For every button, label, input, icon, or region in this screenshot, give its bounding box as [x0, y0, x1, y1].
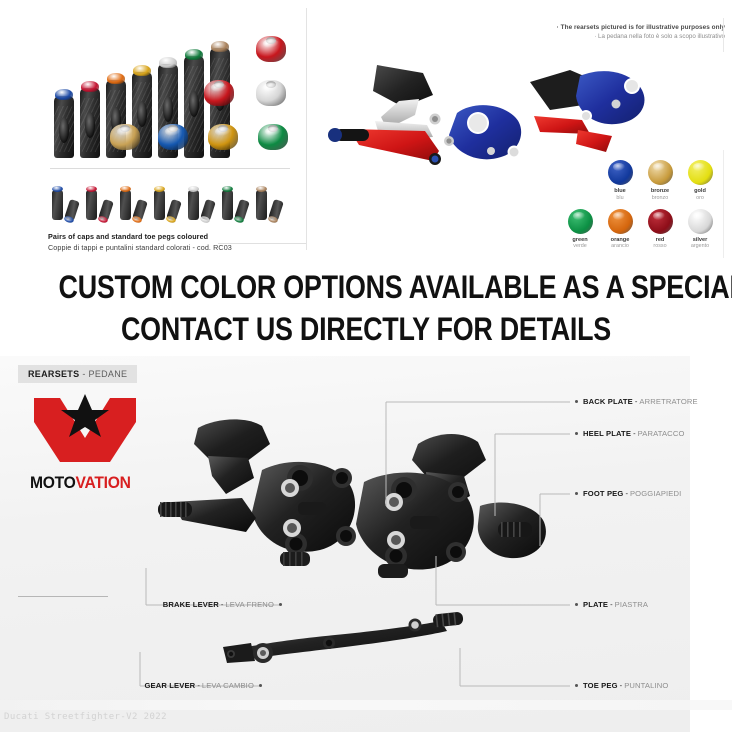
swatch-dot-bronze [648, 160, 673, 185]
annotation-en: PLATE [583, 600, 608, 609]
annotation-en: BRAKE LEVER [163, 600, 219, 609]
cap-blue-cap [158, 124, 188, 150]
panel-right-margin [690, 356, 732, 732]
swatch-label-en-orange: orange [600, 237, 640, 243]
cap-green-cap [258, 124, 288, 150]
color-options-card: Pairs of caps and standard toe pegs colo… [38, 8, 307, 250]
swatch-label-it-bronze: bronzo [640, 195, 680, 201]
footer-band [0, 700, 732, 710]
swatch-label-en-blue: blue [600, 188, 640, 194]
annotation-it: PIASTRA [615, 600, 649, 609]
annotation-back-plate: BACK PLATE-ARRETRATORE [575, 397, 698, 406]
annotation-it: PUNTALINO [624, 681, 668, 690]
logo-m-icon [30, 392, 140, 464]
disclaimer-en: · The rearsets pictured is for illustrat… [520, 24, 725, 31]
annotation-it: LEVA CAMBIO [202, 681, 254, 690]
swatch-label-en-red: red [640, 237, 680, 243]
annotation-en: FOOT PEG [583, 489, 623, 498]
logo-word-red: VATION [76, 473, 131, 492]
rearset-color-photo-2 [520, 60, 685, 170]
logo-wordmark: MOTOVATION [30, 473, 140, 493]
left-divider-rule [18, 596, 108, 597]
swatch-dot-red [648, 209, 673, 234]
cap-gold-cap [110, 124, 140, 150]
gear-lever-photo [215, 611, 475, 671]
swatch-silver[interactable]: silverargento [680, 209, 720, 250]
bottom-panel: REARSETS - PEDANE MOTOVATION [0, 356, 732, 732]
annotation-foot-peg: FOOT PEG-POGGIAPIEDI [575, 489, 681, 498]
swatch-dot-silver [688, 209, 713, 234]
cap-red-cap [256, 36, 286, 62]
disclaimer: · The rearsets pictured is for illustrat… [520, 24, 725, 40]
catalog-page: Pairs of caps and standard toe pegs colo… [0, 0, 732, 732]
card-caption-en: Pairs of caps and standard toe pegs colo… [48, 232, 298, 241]
annotation-toe-peg: TOE PEG-PUNTALINO [575, 681, 668, 690]
caption-rule [218, 243, 306, 244]
annotation-it: LEVA FRENO [225, 600, 274, 609]
swatch-divider [723, 150, 724, 258]
swatch-label-it-orange: arancio [600, 243, 640, 249]
logo-word-dark: MOTO [30, 473, 76, 492]
promo-headline: Custom Color Options Available as a Spec… [0, 268, 732, 348]
pair-green-pair [222, 186, 252, 220]
annotation-en: HEEL PLATE [583, 429, 631, 438]
swatch-label-it-blue: blu [600, 195, 640, 201]
footer-caption: Ducati Streetfighter-V2 2022 [4, 712, 167, 722]
section-header: REARSETS - PEDANE [18, 365, 137, 383]
annotation-it: POGGIAPIEDI [630, 489, 681, 498]
leader-dot [575, 603, 578, 606]
rearset-black-photo-right [330, 426, 560, 606]
swatch-green[interactable]: greenverde [560, 209, 600, 250]
pair-blue-pair [52, 186, 82, 220]
swatch-label-it-gold: oro [680, 195, 720, 201]
section-header-it: - PEDANE [82, 369, 127, 379]
cap-bronze-cap [208, 124, 238, 150]
annotation-it: PARATACCO [638, 429, 685, 438]
disclaimer-it: · La pedana nella foto è solo a scopo il… [520, 33, 725, 40]
cap-silver-cap [256, 80, 286, 106]
swatch-label-en-silver: silver [680, 237, 720, 243]
annotation-plate: PLATE-PIASTRA [575, 600, 648, 609]
swatch-dot-orange [608, 209, 633, 234]
pair-orange-pair [120, 186, 150, 220]
disclaimer-divider [723, 18, 724, 52]
annotation-brake-lever: BRAKE LEVER-LEVA FRENO [18, 600, 282, 609]
cap-peg-pairs-row [48, 184, 298, 220]
annotation-heel-plate: HEEL PLATE-PARATACCO [575, 429, 685, 438]
annotation-en: TOE PEG [583, 681, 618, 690]
annotation-it: ARRETRATORE [639, 397, 697, 406]
swatch-label-en-gold: gold [680, 188, 720, 194]
color-swatch-grid: blueblubronzebronzogoldoro greenverdeora… [560, 160, 720, 249]
headline-line-1: Custom Color Options Available as a Spec… [59, 268, 674, 306]
cap-red-cap-2 [204, 80, 234, 106]
pair-bronze-pair [256, 186, 286, 220]
swatch-dot-gold [688, 160, 713, 185]
swatch-label-it-green: verde [560, 243, 600, 249]
swatch-bronze[interactable]: bronzebronzo [640, 160, 680, 201]
swatch-label-en-bronze: bronze [640, 188, 680, 194]
pair-red-pair [86, 186, 116, 220]
cap-group [38, 18, 306, 168]
motovation-logo: MOTOVATION [30, 392, 150, 497]
annotation-gear-lever: GEAR LEVER-LEVA CAMBIO [18, 681, 262, 690]
pair-gold-pair [154, 186, 184, 220]
leader-dot [575, 684, 578, 687]
swatch-dot-blue [608, 160, 633, 185]
swatch-gold[interactable]: goldoro [680, 160, 720, 201]
swatch-dot-green [568, 209, 593, 234]
swatch-label-it-red: rosso [640, 243, 680, 249]
leader-dot [575, 432, 578, 435]
swatch-label-en-green: green [560, 237, 600, 243]
card-divider [50, 168, 290, 169]
headline-line-2: Contact Us Directly for Details [59, 310, 674, 348]
annotation-en: GEAR LEVER [144, 681, 195, 690]
card-caption: Pairs of caps and standard toe pegs colo… [48, 232, 298, 252]
leader-dot [279, 603, 282, 606]
swatch-blue[interactable]: blueblu [600, 160, 640, 201]
swatch-row-top: blueblubronzebronzogoldoro [600, 160, 720, 201]
swatch-orange[interactable]: orangearancio [600, 209, 640, 250]
leader-dot [575, 492, 578, 495]
annotation-en: BACK PLATE [583, 397, 633, 406]
top-panel: Pairs of caps and standard toe pegs colo… [0, 0, 732, 265]
swatch-red[interactable]: redrosso [640, 209, 680, 250]
leader-dot [575, 400, 578, 403]
leader-dot [259, 684, 262, 687]
section-header-en: REARSETS [28, 369, 79, 379]
swatch-row-bottom: greenverdeorangearancioredrossosilverarg… [560, 209, 720, 250]
swatch-label-it-silver: argento [680, 243, 720, 249]
pair-silver-pair [188, 186, 218, 220]
